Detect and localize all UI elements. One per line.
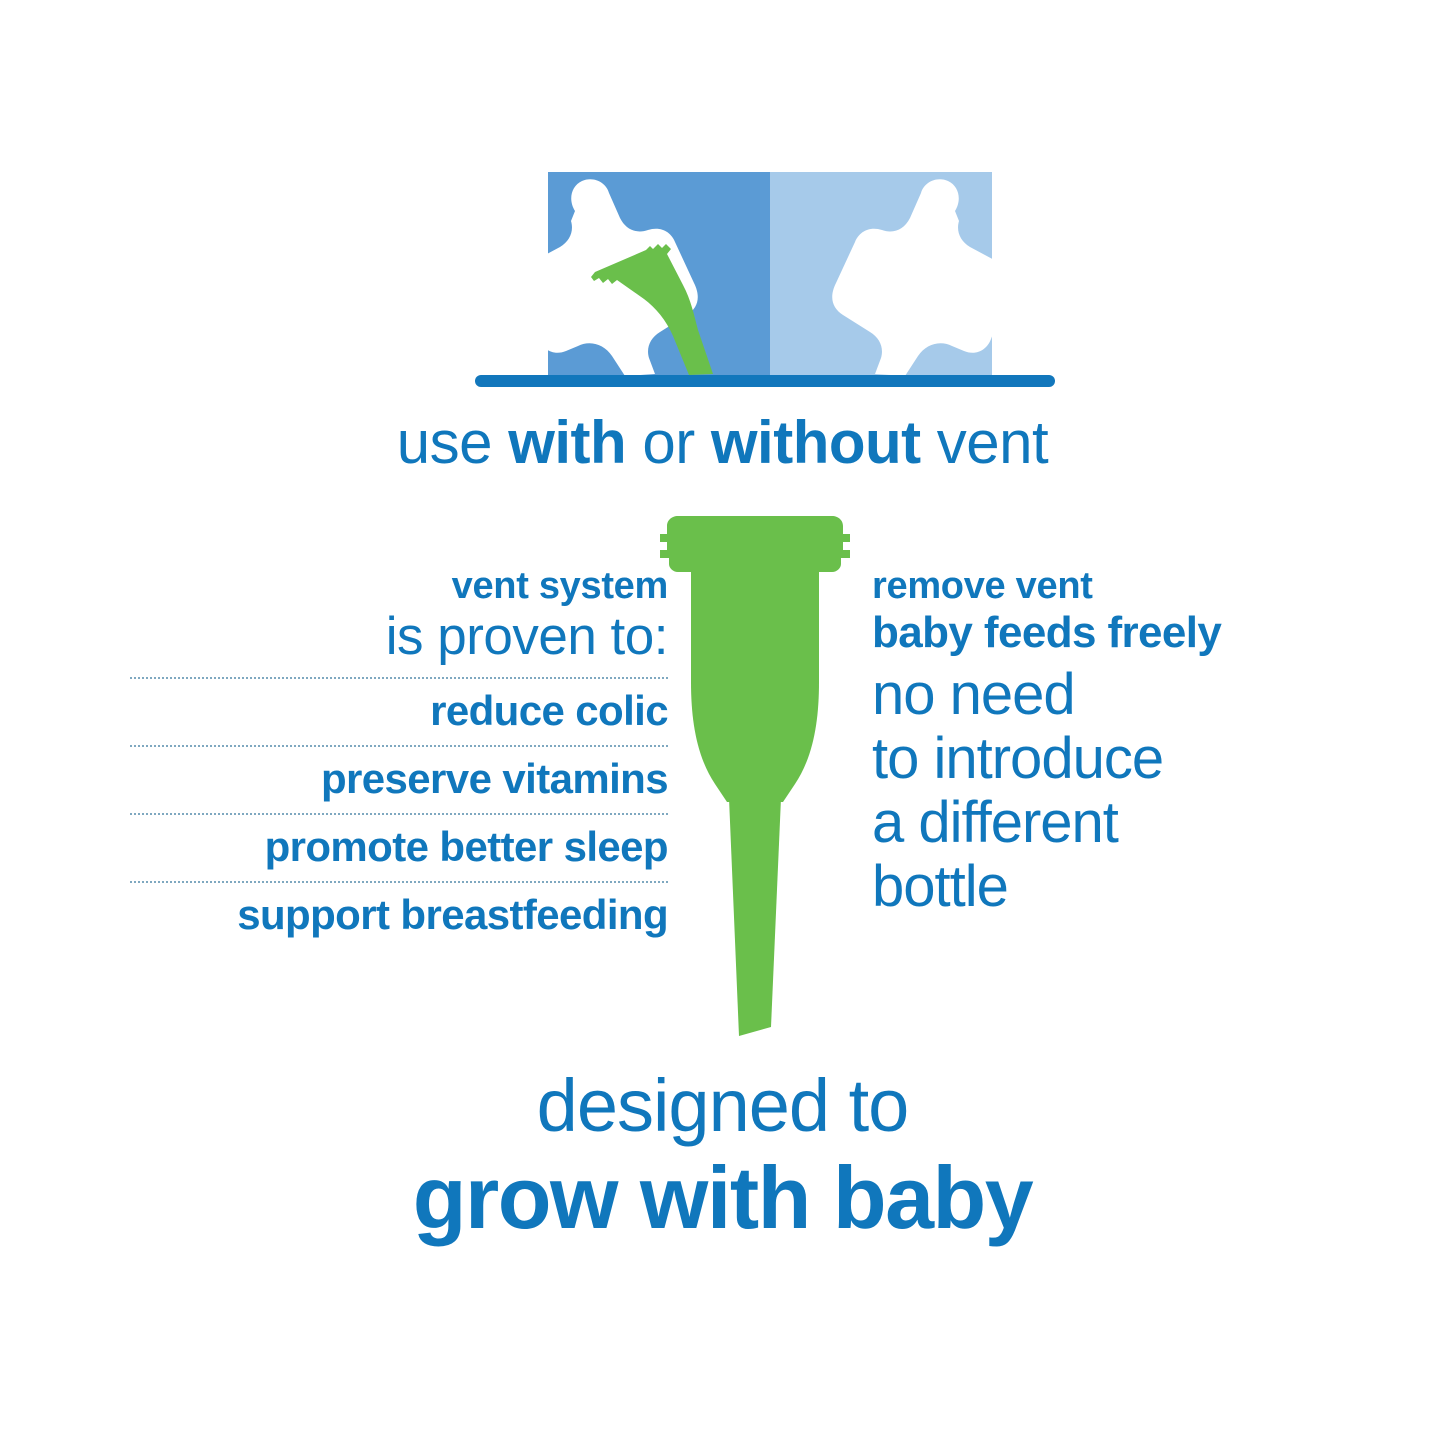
benefit-label: support breastfeeding: [130, 885, 668, 945]
list-item: promote better sleep: [130, 813, 668, 881]
body-line: bottle: [872, 855, 1302, 919]
headline-part-vent: vent: [921, 409, 1049, 476]
headline-part-without: without: [711, 409, 921, 476]
headline-part-or: or: [626, 409, 711, 476]
infographic-canvas: use with or without vent vent system is …: [0, 0, 1445, 1445]
headline-part-1: use: [397, 409, 508, 476]
benefits-list: reduce colic preserve vitamins promote b…: [130, 677, 668, 949]
tagline-line-2: grow with baby: [0, 1149, 1445, 1247]
benefit-label: reduce colic: [130, 681, 668, 741]
bottles-shelf-illustration: [470, 160, 1060, 400]
left-column: vent system is proven to: reduce colic p…: [130, 565, 668, 949]
tagline-line-1: designed to: [0, 1063, 1445, 1149]
left-column-subtitle: is proven to:: [130, 607, 668, 667]
right-column: remove vent baby feeds freely no need to…: [872, 565, 1302, 919]
list-item: reduce colic: [130, 677, 668, 745]
benefit-label: preserve vitamins: [130, 749, 668, 809]
right-column-title: remove vent: [872, 565, 1302, 607]
right-column-body: no need to introduce a different bottle: [872, 663, 1302, 919]
body-line: no need: [872, 663, 1302, 727]
vent-stem: [729, 798, 781, 1036]
page-headline: use with or without vent: [0, 409, 1445, 477]
list-item: preserve vitamins: [130, 745, 668, 813]
tagline: designed to grow with baby: [0, 1063, 1445, 1247]
right-column-subtitle: baby feeds freely: [872, 607, 1302, 659]
bottle-right-silhouette: [832, 179, 1011, 376]
hero-illustration: [0, 0, 1445, 400]
list-item: support breastfeeding: [130, 881, 668, 949]
left-column-title: vent system: [130, 565, 668, 607]
headline-part-with: with: [508, 409, 626, 476]
benefit-label: promote better sleep: [130, 817, 668, 877]
body-line: a different: [872, 791, 1302, 855]
shelf-bar: [475, 375, 1055, 387]
body-line: to introduce: [872, 727, 1302, 791]
vent-system-diagram: [645, 512, 865, 1042]
vent-body: [691, 570, 819, 802]
vent-cap: [660, 516, 850, 572]
